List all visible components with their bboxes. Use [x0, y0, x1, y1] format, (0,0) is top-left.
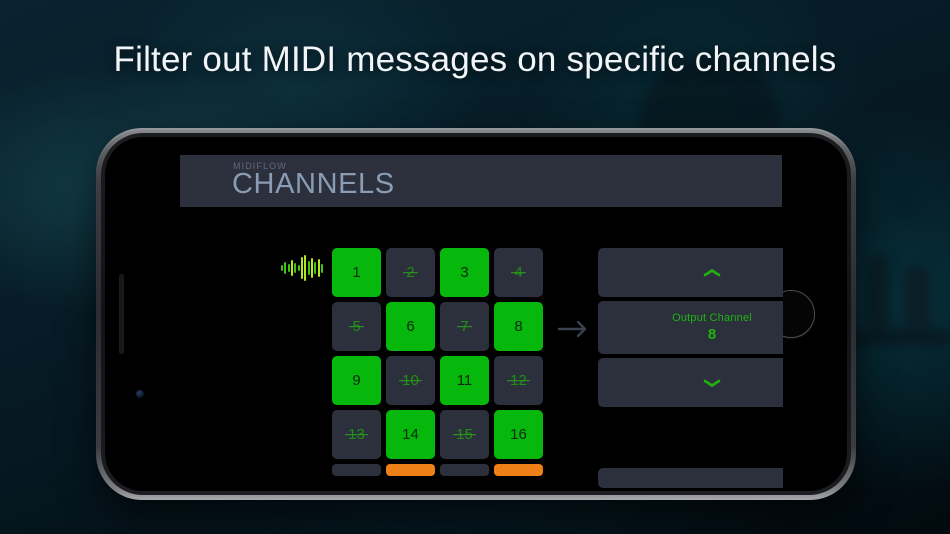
channel-pad-label: 10	[402, 372, 419, 389]
channel-pad-label: 1	[352, 264, 360, 281]
channel-pad-label: 4	[514, 264, 522, 281]
waveform-bar	[294, 263, 296, 273]
page-title: CHANNELS	[232, 168, 395, 201]
cc-pad-4[interactable]	[494, 464, 543, 476]
channel-pad-label: 6	[406, 318, 414, 335]
channel-pad-label: 2	[406, 264, 414, 281]
arrow-right-icon	[557, 317, 593, 341]
channel-pad-9[interactable]: 9	[332, 356, 381, 405]
waveform-bar	[318, 259, 320, 277]
channel-pad-5[interactable]: 5	[332, 302, 381, 351]
waveform-bar	[291, 260, 293, 276]
app-title-bar: MIDIFLOW CHANNELS	[180, 155, 782, 207]
earpiece-speaker-icon	[119, 274, 124, 354]
app-screen: MIDIFLOW CHANNELS 1234567891011121314151…	[180, 137, 783, 491]
channel-pad-15[interactable]: 15	[440, 410, 489, 459]
waveform-bar	[284, 262, 286, 274]
channel-pad-label: 14	[402, 426, 419, 443]
channel-pad-14[interactable]: 14	[386, 410, 435, 459]
waveform-bar	[298, 265, 300, 271]
channel-pad-12[interactable]: 12	[494, 356, 543, 405]
channel-pad-label: 3	[460, 264, 468, 281]
output-extra-panel[interactable]	[598, 468, 783, 488]
chevron-down-icon	[702, 378, 722, 388]
waveform-bar	[281, 265, 283, 271]
channel-pad-label: 12	[510, 372, 527, 389]
waveform-bar	[308, 261, 310, 275]
channel-grid: 12345678910111213141516	[332, 248, 550, 491]
channel-pad-3[interactable]: 3	[440, 248, 489, 297]
channel-pad-4[interactable]: 4	[494, 248, 543, 297]
waveform-bar	[311, 258, 313, 278]
output-channel-display[interactable]: Output Channel 8	[598, 301, 783, 354]
output-channel-decrement-button[interactable]	[598, 358, 783, 407]
front-camera-icon	[136, 390, 144, 398]
cc-pad-2[interactable]	[386, 464, 435, 476]
phone-bezel: MIDIFLOW CHANNELS 1234567891011121314151…	[101, 133, 851, 495]
waveform-bar	[321, 264, 323, 273]
channel-pad-16[interactable]: 16	[494, 410, 543, 459]
output-channel-value: 8	[708, 326, 716, 343]
channel-pad-10[interactable]: 10	[386, 356, 435, 405]
waveform-bar	[288, 264, 290, 272]
channel-pad-label: 13	[348, 426, 365, 443]
channel-pad-13[interactable]: 13	[332, 410, 381, 459]
channel-pad-11[interactable]: 11	[440, 356, 489, 405]
channel-pad-2[interactable]: 2	[386, 248, 435, 297]
channel-pad-label: 5	[352, 318, 360, 335]
output-channel-label: Output Channel	[672, 312, 752, 324]
channel-pad-label: 15	[456, 426, 473, 443]
channel-pad-label: 16	[510, 426, 527, 443]
channel-pad-7[interactable]: 7	[440, 302, 489, 351]
screenshot-stage: Filter out MIDI messages on specific cha…	[0, 0, 950, 534]
phone-device-frame: MIDIFLOW CHANNELS 1234567891011121314151…	[96, 128, 856, 500]
waveform-bar	[314, 262, 316, 274]
channel-pad-label: 9	[352, 372, 360, 389]
waveform-icon	[281, 254, 323, 282]
channel-pad-1[interactable]: 1	[332, 248, 381, 297]
phone-body: MIDIFLOW CHANNELS 1234567891011121314151…	[105, 137, 847, 491]
channel-pad-6[interactable]: 6	[386, 302, 435, 351]
waveform-bar	[304, 255, 306, 281]
cc-pad-1[interactable]	[332, 464, 381, 476]
channel-pad-label: 7	[460, 318, 468, 335]
waveform-bar	[301, 257, 303, 279]
cc-pad-3[interactable]	[440, 464, 489, 476]
channel-pad-label: 8	[514, 318, 522, 335]
chevron-up-icon	[702, 268, 722, 278]
output-channel-increment-button[interactable]	[598, 248, 783, 297]
page-headline: Filter out MIDI messages on specific cha…	[0, 40, 950, 80]
channel-pad-label: 11	[457, 372, 473, 389]
channel-pad-8[interactable]: 8	[494, 302, 543, 351]
